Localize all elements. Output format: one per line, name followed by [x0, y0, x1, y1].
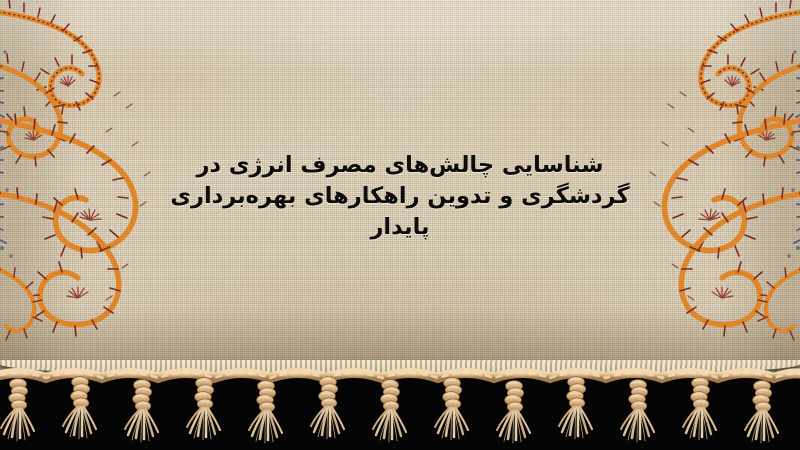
title-line-1: شناسایی چالش‌های مصرف انرژی در — [130, 150, 670, 181]
title-line-2: گردشگری و تدوین راهکارهای بهره‌برداری — [130, 181, 670, 212]
slide-title: شناسایی چالش‌های مصرف انرژی در گردشگری و… — [130, 150, 670, 243]
title-line-3: پایدار — [130, 212, 670, 243]
tassel-fringe — [0, 366, 800, 450]
title-slide: شناسایی چالش‌های مصرف انرژی در گردشگری و… — [0, 0, 800, 450]
